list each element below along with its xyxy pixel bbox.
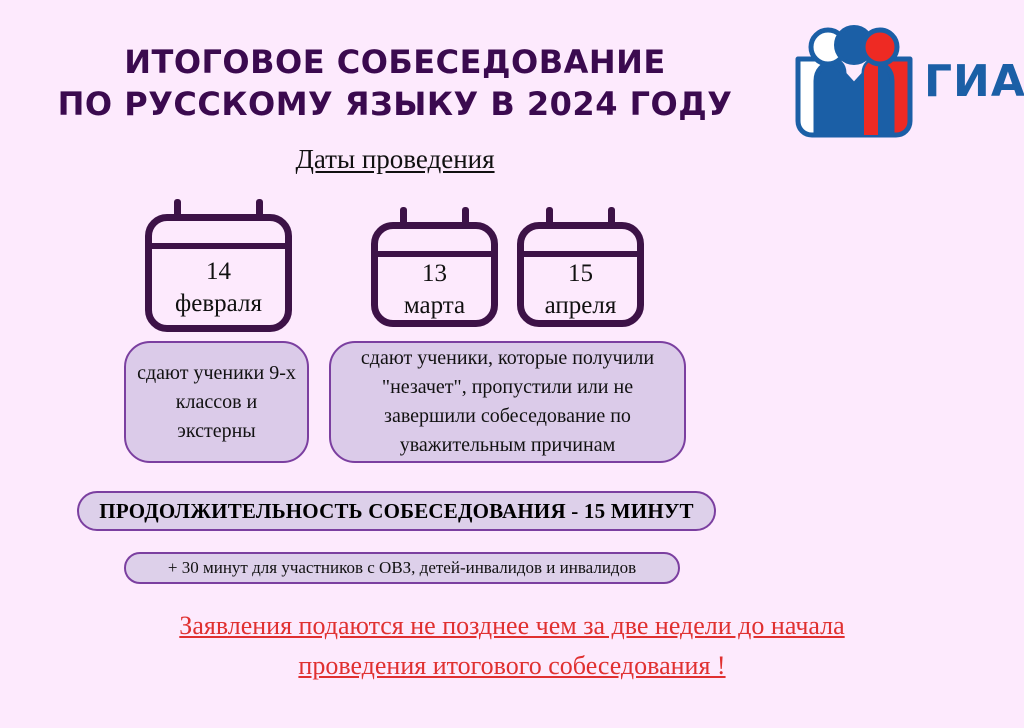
calendar-icon-february: 14 февраля: [145, 214, 292, 332]
calendar-icon-april: 15 апреля: [517, 222, 644, 327]
gia-logo-text: ГИА: [924, 60, 1024, 104]
warning-line-2: проведения итогового собеседования !: [298, 651, 725, 680]
duration-banner-text: ПРОДОЛЖИТЕЛЬНОСТЬ СОБЕСЕДОВАНИЯ - 15 МИН…: [99, 499, 693, 524]
calendar-date-text: 13 марта: [378, 259, 491, 320]
calendar-ring-right: [462, 207, 469, 229]
warning-line-2-wrap: проведения итогового собеседования !: [0, 646, 1024, 686]
duration-banner: ПРОДОЛЖИТЕЛЬНОСТЬ СОБЕСЕДОВАНИЯ - 15 МИН…: [77, 491, 716, 531]
warning-line-1-wrap: Заявления подаются не позднее чем за две…: [0, 606, 1024, 646]
calendar-month: февраля: [175, 288, 262, 320]
dates-section-heading: Даты проведения: [0, 144, 790, 175]
extra-time-note: + 30 минут для участников с ОВЗ, детей-и…: [124, 552, 680, 584]
audience-box-main-wave: сдают ученики 9-х классов и экстерны: [124, 341, 309, 463]
audience-box-text: сдают ученики, которые получили "незачет…: [341, 344, 674, 460]
calendar-date-text: 15 апреля: [524, 259, 637, 320]
calendar-header-bar: [151, 243, 286, 249]
warning-line-1: Заявления подаются не позднее чем за две…: [179, 611, 844, 640]
extra-time-note-text: + 30 минут для участников с ОВЗ, детей-и…: [168, 558, 636, 578]
calendar-day: 14: [206, 256, 231, 288]
calendar-ring-left: [546, 207, 553, 229]
page-header: ИТОГОВОЕ СОБЕСЕДОВАНИЕ ПО РУССКОМУ ЯЗЫКУ…: [0, 0, 1024, 145]
gia-emblem-icon: [790, 23, 918, 141]
audience-box-text: сдают ученики 9-х классов и экстерны: [136, 359, 297, 446]
calendar-day: 15: [568, 258, 593, 290]
gia-logo: ГИА: [790, 22, 1024, 142]
calendar-header-bar: [523, 251, 638, 257]
page-title-line-2: ПО РУССКОМУ ЯЗЫКУ В 2024 ГОДУ: [0, 84, 790, 126]
page-title-line-1: ИТОГОВОЕ СОБЕСЕДОВАНИЕ: [0, 42, 790, 84]
calendar-ring-left: [174, 199, 181, 221]
calendar-ring-left: [400, 207, 407, 229]
calendar-date-text: 14 февраля: [152, 251, 285, 325]
calendar-day: 13: [422, 258, 447, 290]
page-title: ИТОГОВОЕ СОБЕСЕДОВАНИЕ ПО РУССКОМУ ЯЗЫКУ…: [0, 42, 790, 125]
application-deadline-warning: Заявления подаются не позднее чем за две…: [0, 606, 1024, 687]
calendar-month: апреля: [545, 290, 617, 322]
calendar-month: марта: [404, 290, 465, 322]
calendar-icon-march: 13 марта: [371, 222, 498, 327]
calendar-ring-right: [256, 199, 263, 221]
audience-box-retake-wave: сдают ученики, которые получили "незачет…: [329, 341, 686, 463]
calendar-ring-right: [608, 207, 615, 229]
calendar-header-bar: [377, 251, 492, 257]
